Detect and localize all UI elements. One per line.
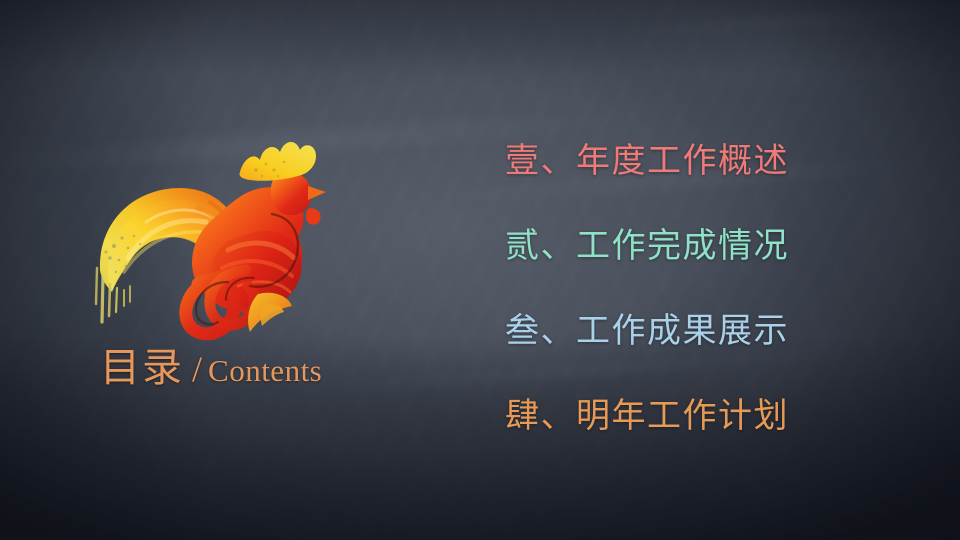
table-of-contents-list: 壹、年度工作概述 贰、工作完成情况 叁、工作成果展示 肆、明年工作计划 bbox=[505, 118, 925, 458]
toc-item-1-label: 壹、年度工作概述 bbox=[505, 144, 789, 178]
left-content-block: 目录/Contents bbox=[0, 0, 430, 540]
toc-item-2-label: 贰、工作完成情况 bbox=[505, 229, 789, 263]
contents-title-separator: / bbox=[192, 349, 202, 389]
toc-item-1[interactable]: 壹、年度工作概述 bbox=[505, 118, 925, 203]
rooster-logo bbox=[88, 126, 332, 338]
toc-item-2[interactable]: 贰、工作完成情况 bbox=[505, 203, 925, 288]
contents-title-cn: 目录 bbox=[100, 345, 184, 391]
toc-item-3-label: 叁、工作成果展示 bbox=[505, 314, 789, 348]
toc-item-4[interactable]: 肆、明年工作计划 bbox=[505, 373, 925, 458]
contents-title-en: Contents bbox=[208, 353, 322, 388]
toc-item-4-label: 肆、明年工作计划 bbox=[505, 399, 789, 433]
toc-item-3[interactable]: 叁、工作成果展示 bbox=[505, 288, 925, 373]
contents-title: 目录/Contents bbox=[100, 348, 322, 388]
slide-canvas: 目录/Contents 壹、年度工作概述 贰、工作完成情况 叁、工作成果展示 肆… bbox=[0, 0, 960, 540]
